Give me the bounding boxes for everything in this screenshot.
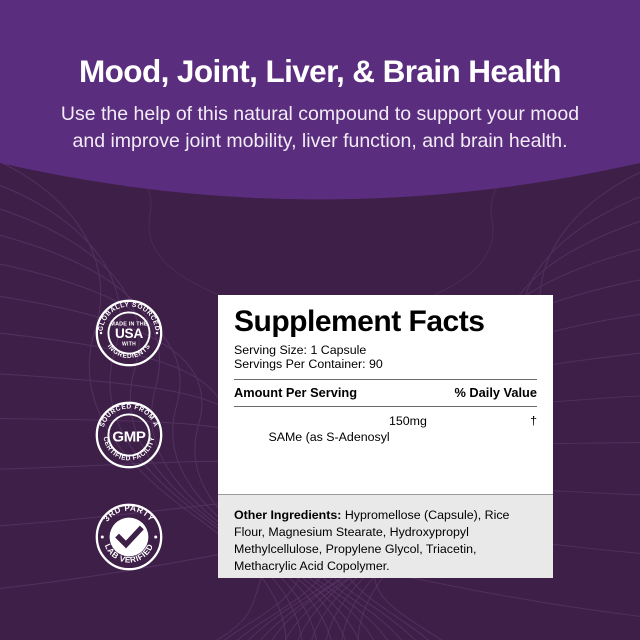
divider-below-amount-header [234, 406, 537, 407]
badge-gmp-certified: SOURCED FROM A CERTIFIED FACILITY GMP [95, 401, 163, 469]
badge-third-party-lab-verified: 3RD PARTY LAB VERIFIED [95, 503, 163, 571]
amount-per-serving-header: Amount Per Serving [234, 385, 357, 400]
other-ingredients-section: Other Ingredients: Hypromellose (Capsule… [218, 494, 553, 578]
badge-gmp-arc-top: SOURCED FROM A [99, 403, 159, 428]
divider-above-amount-header [234, 379, 537, 380]
ingredient-daily-value: † [530, 414, 537, 430]
badge-usa-label: USA [115, 326, 143, 341]
product-infographic: Mood, Joint, Liver, & Brain Health Use t… [0, 0, 640, 640]
page-title: Mood, Joint, Liver, & Brain Health [0, 0, 640, 88]
badge-globally-sourced: GLOBALLY SOURCED INGREDIENTS MADE IN THE… [95, 299, 163, 367]
serving-size: Serving Size: 1 Capsule [234, 343, 537, 358]
other-ingredients-label: Other Ingredients: [234, 508, 341, 522]
other-ingredients-text: Other Ingredients: Hypromellose (Capsule… [234, 507, 537, 575]
ingredient-amount: 150mg [389, 414, 427, 430]
supplement-facts-title: Supplement Facts [234, 306, 537, 338]
page-subtitle: Use the help of this natural compound to… [0, 88, 640, 155]
badge-with-label: WITH [122, 342, 136, 348]
supplement-facts-panel: Supplement Facts Serving Size: 1 Capsule… [218, 295, 553, 578]
ingredient-name-line1: SAMe (as S-Adenosyl [268, 430, 389, 444]
badge-gmp-label: GMP [112, 428, 146, 445]
hero-banner: Mood, Joint, Liver, & Brain Health Use t… [0, 0, 640, 235]
daily-value-header: % Daily Value [454, 385, 537, 400]
servings-per-container: Servings Per Container: 90 [234, 357, 537, 372]
amount-per-serving-header-row: Amount Per Serving % Daily Value [234, 385, 537, 400]
serving-info: Serving Size: 1 Capsule Servings Per Con… [234, 343, 537, 373]
